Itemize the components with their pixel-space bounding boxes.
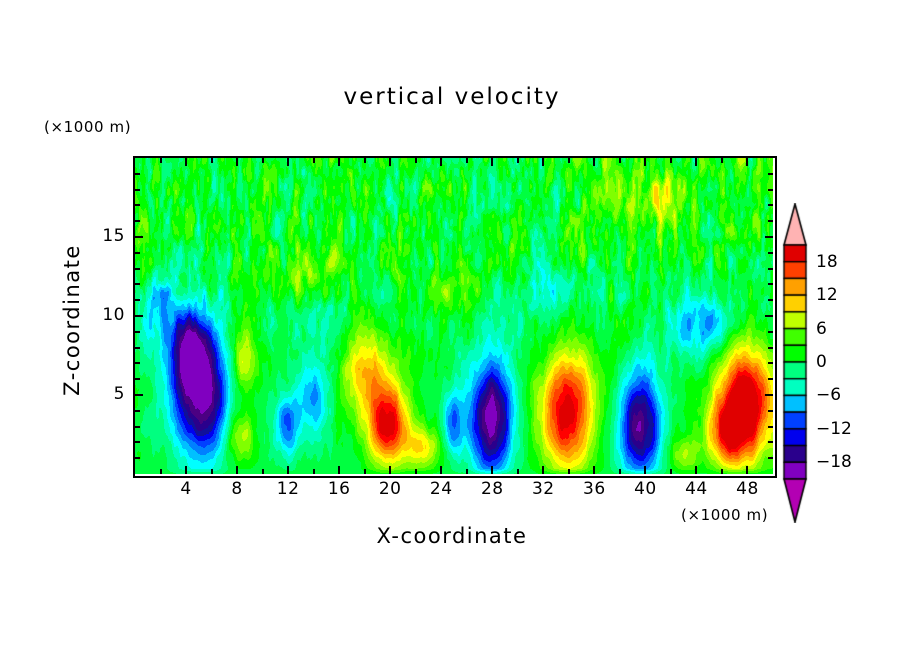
y-tick-right-3: [768, 426, 773, 428]
x-tick-20: [389, 466, 391, 474]
x-tick-top-48: [746, 158, 748, 166]
contour-figure: vertical velocity (×1000 m) (×1000 m) X-…: [0, 0, 904, 654]
y-tick-label-15: 15: [85, 226, 125, 246]
y-tick-right-5: [765, 394, 773, 396]
x-tick-26: [466, 469, 468, 474]
y-axis-title: Z-coordinate: [60, 200, 84, 440]
y-tick-5: [135, 394, 143, 396]
x-tick-48: [746, 466, 748, 474]
x-tick-top-36: [593, 158, 595, 166]
x-tick-top-2: [160, 158, 162, 163]
x-tick-top-8: [236, 158, 238, 166]
x-tick-top-16: [338, 158, 340, 166]
colorbar-label-0: 0: [816, 352, 827, 372]
y-tick-right-2: [768, 441, 773, 443]
x-tick-top-28: [491, 158, 493, 166]
x-tick-top-18: [364, 158, 366, 163]
y-tick-11: [135, 299, 140, 301]
y-tick-right-11: [768, 299, 773, 301]
x-tick-top-22: [415, 158, 417, 163]
x-tick-label-4: 4: [163, 479, 209, 499]
y-tick-6: [135, 378, 140, 380]
y-tick-8: [135, 347, 140, 349]
y-tick-7: [135, 362, 140, 364]
x-tick-top-44: [695, 158, 697, 166]
colorbar: 181260−6−12−18: [780, 203, 900, 523]
x-tick-top-6: [211, 158, 213, 163]
y-tick-right-1: [768, 457, 773, 459]
x-tick-top-4: [185, 158, 187, 166]
x-tick-34: [568, 469, 570, 474]
x-tick-10: [262, 469, 264, 474]
y-tick-14: [135, 252, 140, 254]
y-tick-right-4: [768, 410, 773, 412]
y-tick-12: [135, 283, 140, 285]
x-tick-top-26: [466, 158, 468, 163]
y-tick-label-10: 10: [85, 305, 125, 325]
x-tick-label-32: 32: [520, 479, 566, 499]
y-tick-right-7: [768, 362, 773, 364]
x-tick-label-44: 44: [673, 479, 719, 499]
y-tick-15: [135, 236, 143, 238]
x-tick-30: [517, 469, 519, 474]
x-tick-28: [491, 466, 493, 474]
y-tick-right-10: [765, 315, 773, 317]
x-tick-label-16: 16: [316, 479, 362, 499]
x-axis-units-label: (×1000 m): [681, 506, 768, 524]
y-tick-label-5: 5: [85, 384, 125, 404]
x-tick-top-38: [619, 158, 621, 163]
y-tick-3: [135, 426, 140, 428]
y-tick-13: [135, 268, 140, 270]
page-title: vertical velocity: [0, 84, 904, 110]
x-tick-top-24: [440, 158, 442, 166]
y-tick-16: [135, 220, 140, 222]
x-tick-top-42: [670, 158, 672, 163]
y-tick-right-8: [768, 347, 773, 349]
x-tick-6: [211, 469, 213, 474]
y-tick-right-6: [768, 378, 773, 380]
x-tick-12: [287, 466, 289, 474]
y-tick-1: [135, 457, 140, 459]
x-tick-32: [542, 466, 544, 474]
x-tick-top-10: [262, 158, 264, 163]
x-tick-label-24: 24: [418, 479, 464, 499]
x-tick-label-20: 20: [367, 479, 413, 499]
x-tick-top-30: [517, 158, 519, 163]
x-tick-2: [160, 469, 162, 474]
x-tick-24: [440, 466, 442, 474]
x-tick-36: [593, 466, 595, 474]
x-tick-18: [364, 469, 366, 474]
x-tick-top-12: [287, 158, 289, 166]
x-tick-8: [236, 466, 238, 474]
x-tick-40: [644, 466, 646, 474]
y-tick-right-14: [768, 252, 773, 254]
colorbar-label--6: −6: [816, 385, 841, 405]
y-tick-right-15: [765, 236, 773, 238]
x-tick-label-8: 8: [214, 479, 260, 499]
y-tick-2: [135, 441, 140, 443]
y-tick-right-19: [768, 173, 773, 175]
colorbar-swatches: [780, 203, 810, 523]
colorbar-label--18: −18: [816, 452, 852, 472]
x-tick-label-48: 48: [724, 479, 770, 499]
y-tick-19: [135, 173, 140, 175]
x-tick-top-40: [644, 158, 646, 166]
x-tick-label-12: 12: [265, 479, 311, 499]
y-tick-right-18: [768, 189, 773, 191]
colorbar-label-6: 6: [816, 319, 827, 339]
y-tick-right-9: [768, 331, 773, 333]
x-tick-16: [338, 466, 340, 474]
y-tick-right-12: [768, 283, 773, 285]
y-tick-17: [135, 204, 140, 206]
y-tick-9: [135, 331, 140, 333]
x-tick-top-20: [389, 158, 391, 166]
colorbar-label-18: 18: [816, 252, 838, 272]
colorbar-label--12: −12: [816, 419, 852, 439]
y-tick-18: [135, 189, 140, 191]
x-tick-46: [721, 469, 723, 474]
x-tick-top-32: [542, 158, 544, 166]
plot-frame: [133, 156, 777, 478]
colorbar-label-12: 12: [816, 285, 838, 305]
x-tick-label-28: 28: [469, 479, 515, 499]
x-tick-4: [185, 466, 187, 474]
x-tick-22: [415, 469, 417, 474]
x-tick-44: [695, 466, 697, 474]
x-tick-label-40: 40: [622, 479, 668, 499]
x-tick-top-14: [313, 158, 315, 163]
y-tick-4: [135, 410, 140, 412]
y-tick-right-16: [768, 220, 773, 222]
x-tick-14: [313, 469, 315, 474]
x-tick-label-36: 36: [571, 479, 617, 499]
x-tick-42: [670, 469, 672, 474]
x-tick-top-46: [721, 158, 723, 163]
y-axis-units-label: (×1000 m): [44, 118, 131, 136]
y-tick-right-13: [768, 268, 773, 270]
x-axis-title: X-coordinate: [0, 524, 904, 548]
x-tick-38: [619, 469, 621, 474]
y-tick-10: [135, 315, 143, 317]
x-tick-top-34: [568, 158, 570, 163]
y-tick-right-17: [768, 204, 773, 206]
